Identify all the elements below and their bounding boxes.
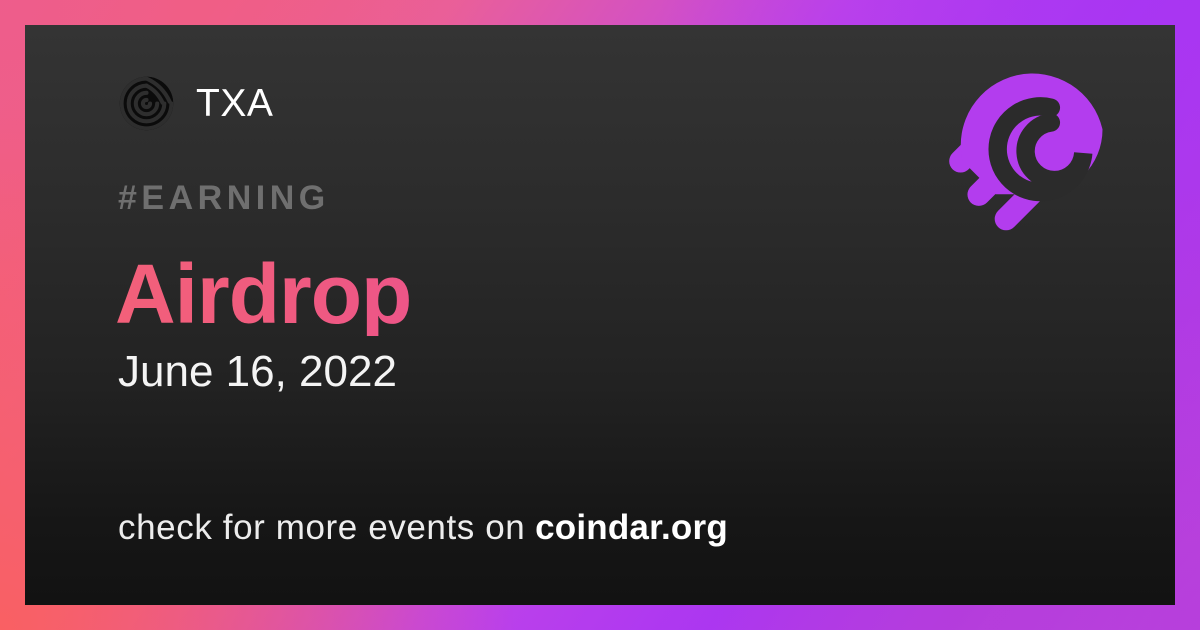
coin-header: TXA [118,75,273,132]
footer-cta: check for more events on coindar.org [118,510,728,545]
coindar-comet-icon[interactable] [938,56,1113,231]
footer-domain-link[interactable]: coindar.org [535,508,728,547]
event-card-panel: TXA #EARNING Airdrop [25,25,1175,605]
coin-ticker-label: TXA [196,84,273,123]
event-title: Airdrop [115,252,411,336]
txa-swirl-circle-icon [118,75,175,132]
gradient-border-frame: TXA #EARNING Airdrop [0,0,1200,630]
event-date: June 16, 2022 [118,350,397,394]
category-tag: #EARNING [118,181,330,215]
footer-lead-text: check for more events on [118,508,525,547]
